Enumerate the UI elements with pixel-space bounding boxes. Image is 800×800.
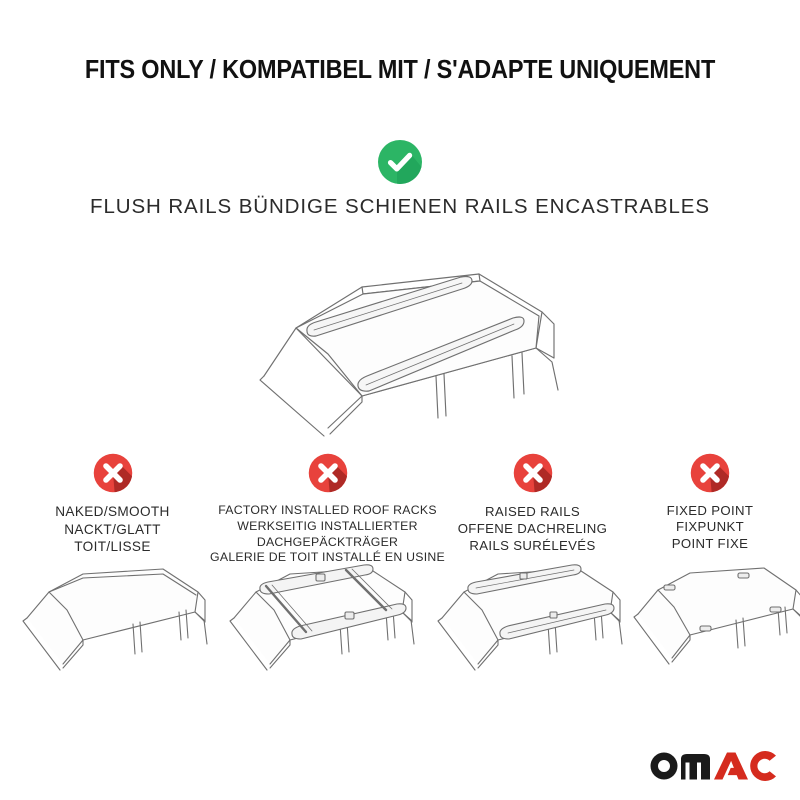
logo-letter-m bbox=[681, 754, 710, 780]
option-raised-rails: RAISED RAILS OFFENE DACHRELING RAILS SUR… bbox=[440, 452, 625, 554]
option-fixed-point: FIXED POINT FIXPUNKT POINT FIXE bbox=[620, 452, 800, 552]
page-title: FITS ONLY / KOMPATIBEL MIT / S'ADAPTE UN… bbox=[32, 56, 768, 85]
green-check-circle-icon bbox=[376, 138, 424, 186]
option-labels: FIXED POINT FIXPUNKT POINT FIXE bbox=[620, 503, 800, 552]
option-labels: NAKED/SMOOTH NACKT/GLATT TOIT/LISSE bbox=[15, 503, 210, 556]
option-label-en: RAISED RAILS bbox=[440, 503, 625, 520]
red-x-circle-icon bbox=[512, 452, 554, 494]
option-label-de-1: WERKSEITIG INSTALLIERTER bbox=[205, 519, 450, 535]
option-labels: RAISED RAILS OFFENE DACHRELING RAILS SUR… bbox=[440, 503, 625, 554]
red-x-circle-icon bbox=[307, 452, 349, 494]
compatible-labels: FLUSH RAILS BÜNDIGE SCHIENEN RAILS ENCAS… bbox=[0, 194, 800, 219]
logo-letter-o bbox=[651, 753, 678, 780]
compatible-label-en: FLUSH RAILS bbox=[90, 195, 232, 218]
car-roof-raised-rails-illustration bbox=[420, 556, 625, 691]
car-roof-flush-rails-illustration bbox=[236, 268, 576, 438]
option-label-en: FACTORY INSTALLED ROOF RACKS bbox=[205, 503, 450, 519]
car-roof-fixed-point-illustration bbox=[618, 556, 800, 691]
red-x-circle-icon bbox=[92, 452, 134, 494]
option-label-en: FIXED POINT bbox=[620, 503, 800, 519]
roof-type-illustrations bbox=[0, 556, 800, 691]
option-label-de: OFFENE DACHRELING bbox=[440, 520, 625, 537]
compatible-section: FLUSH RAILS BÜNDIGE SCHIENEN RAILS ENCAS… bbox=[0, 138, 800, 219]
car-roof-naked-smooth-illustration bbox=[5, 556, 210, 691]
fitment-infographic: FITS ONLY / KOMPATIBEL MIT / S'ADAPTE UN… bbox=[0, 0, 800, 800]
compatible-label-de: BÜNDIGE SCHIENEN bbox=[239, 195, 458, 218]
option-label-fr: TOIT/LISSE bbox=[15, 538, 210, 556]
incompatible-options: NAKED/SMOOTH NACKT/GLATT TOIT/LISSE FACT… bbox=[0, 452, 800, 572]
red-x-circle-icon bbox=[689, 452, 731, 494]
option-label-de: FIXPUNKT bbox=[620, 519, 800, 535]
option-factory-roof-racks: FACTORY INSTALLED ROOF RACKS WERKSEITIG … bbox=[205, 452, 450, 566]
logo-letter-c bbox=[750, 751, 776, 781]
omac-logo bbox=[648, 746, 778, 782]
logo-letter-a bbox=[714, 753, 748, 780]
car-roof-factory-racks-illustration bbox=[212, 556, 427, 691]
option-label-de: NACKT/GLATT bbox=[15, 521, 210, 539]
option-label-fr: POINT FIXE bbox=[620, 536, 800, 552]
option-label-de-2: DACHGEPÄCKTRÄGER bbox=[205, 535, 450, 551]
compatible-label-fr: RAILS ENCASTRABLES bbox=[465, 195, 710, 218]
option-label-fr: RAILS SURÉLEVÉS bbox=[440, 537, 625, 554]
option-label-en: NAKED/SMOOTH bbox=[15, 503, 210, 521]
option-naked-smooth: NAKED/SMOOTH NACKT/GLATT TOIT/LISSE bbox=[15, 452, 210, 556]
